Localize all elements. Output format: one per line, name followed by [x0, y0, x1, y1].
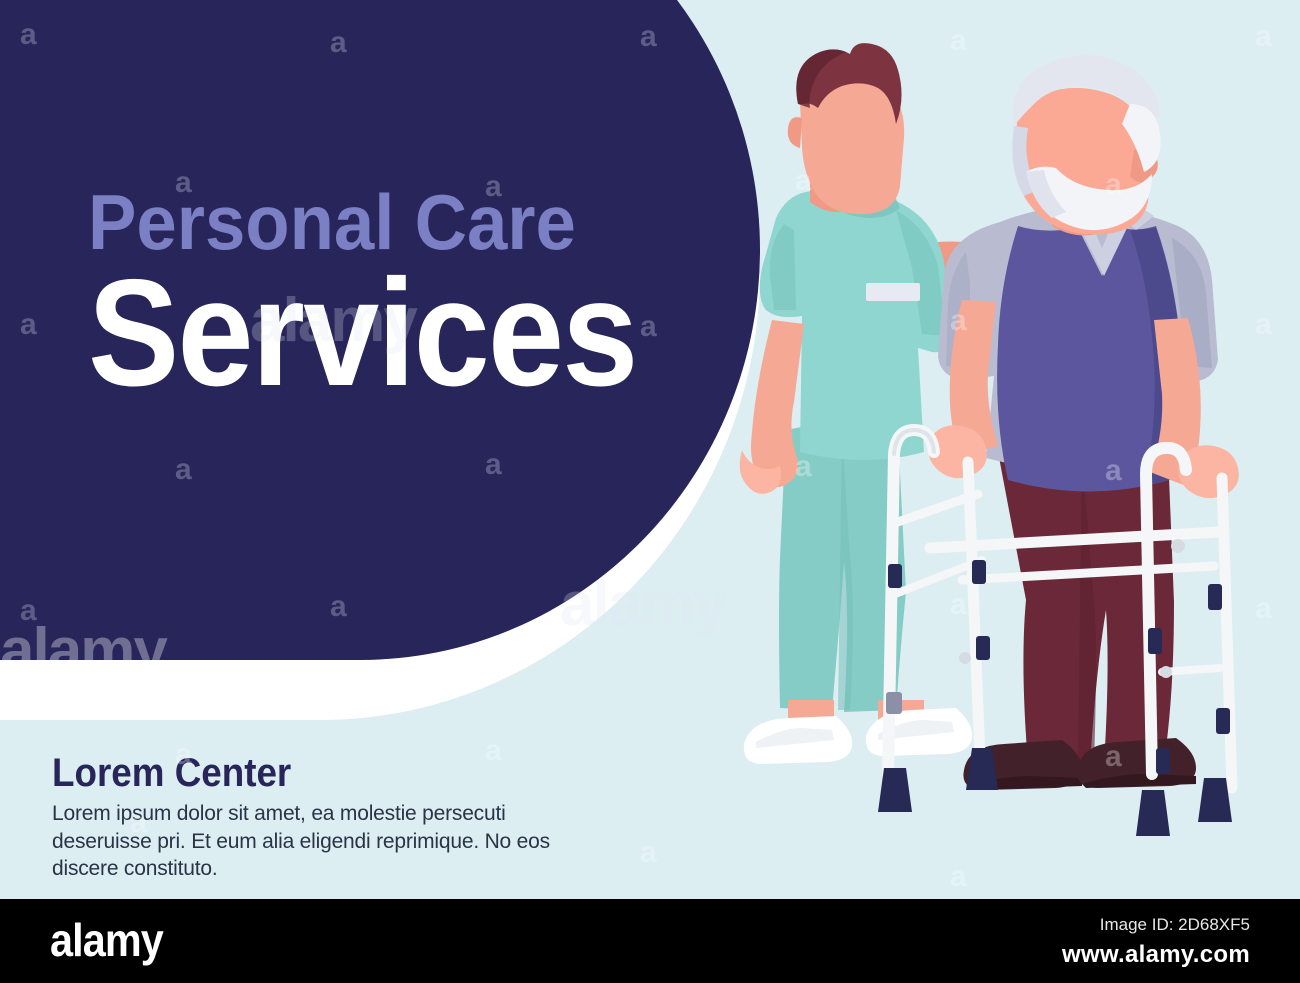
- screenshot-root: Personal Care Services Lorem Center Lore…: [0, 0, 1300, 983]
- poster-artboard: Personal Care Services Lorem Center Lore…: [0, 0, 1300, 899]
- alamy-website-label: www.alamy.com: [950, 941, 1250, 969]
- nurse-arm-left: [751, 320, 804, 487]
- alamy-footer-bar: alamy Image ID: 2D68XF5 www.alamy.com: [0, 899, 1300, 983]
- walker-tip-back-right: [1136, 790, 1170, 836]
- nurse-name-badge: [866, 283, 920, 301]
- alamy-logo: alamy: [50, 913, 163, 967]
- poster-copy-block: Lorem Center Lorem ipsum dolor sit amet,…: [52, 752, 592, 883]
- poster-headline: Personal Care Services: [88, 185, 697, 404]
- image-id-label: Image ID: 2D68XF5: [950, 915, 1250, 935]
- headline-line-2: Services: [88, 264, 637, 404]
- organization-name: Lorem Center: [52, 752, 549, 794]
- organization-blurb: Lorem ipsum dolor sit amet, ea molestie …: [52, 800, 592, 883]
